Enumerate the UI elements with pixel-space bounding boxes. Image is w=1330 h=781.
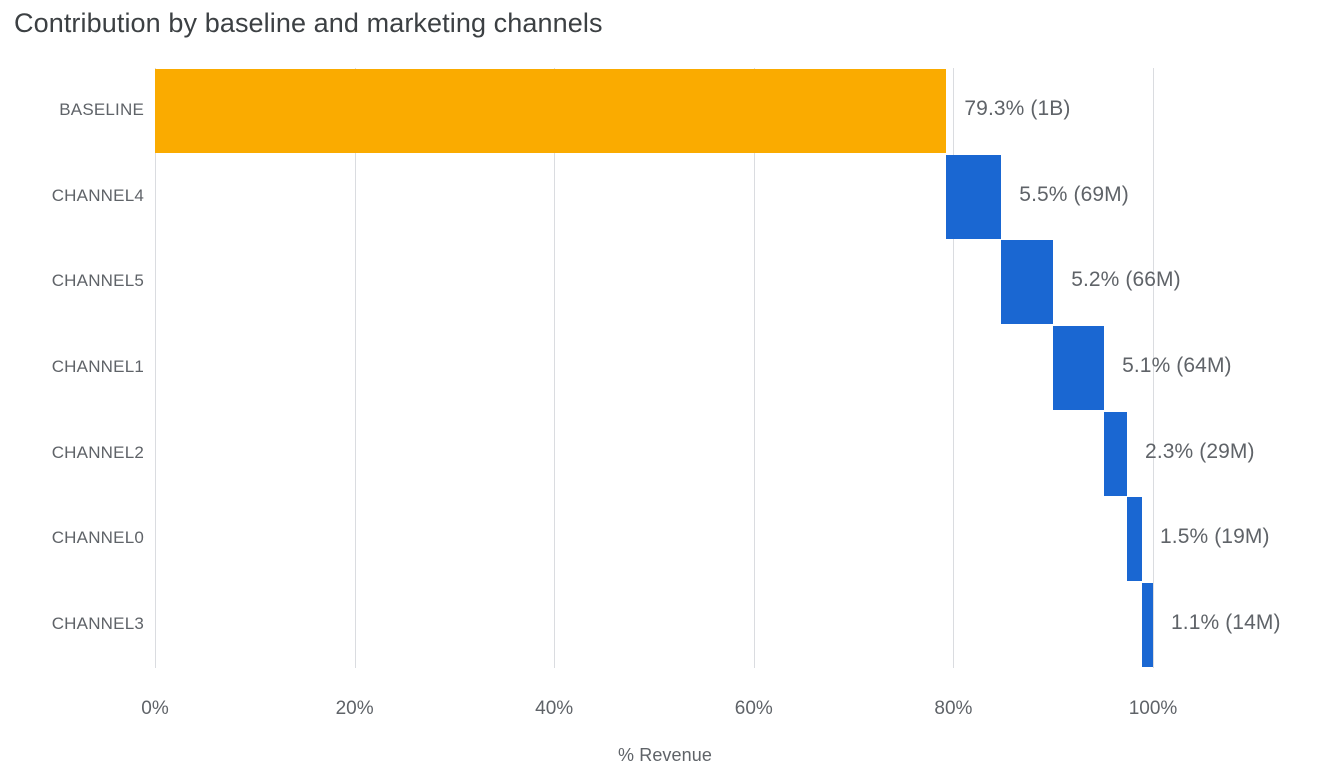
x-axis-tick-40: 40% bbox=[535, 698, 573, 720]
bar-channel4[interactable] bbox=[946, 155, 1001, 239]
data-label-baseline: 79.3% (1B) bbox=[964, 97, 1070, 121]
bar-channel2[interactable] bbox=[1104, 412, 1127, 496]
x-axis-tick-80: 80% bbox=[934, 698, 972, 720]
y-axis-label-channel4: CHANNEL4 bbox=[14, 186, 144, 206]
x-axis-title: % Revenue bbox=[0, 745, 1330, 766]
x-axis-tick-100: 100% bbox=[1129, 698, 1178, 720]
y-axis-label-channel5: CHANNEL5 bbox=[14, 271, 144, 291]
y-axis-label-channel0: CHANNEL0 bbox=[14, 528, 144, 548]
x-axis-tick-20: 20% bbox=[336, 698, 374, 720]
data-label-channel1: 5.1% (64M) bbox=[1122, 354, 1232, 378]
bar-baseline[interactable] bbox=[155, 69, 946, 153]
gridline-60 bbox=[754, 68, 755, 668]
y-axis-label-channel3: CHANNEL3 bbox=[14, 614, 144, 634]
data-label-channel5: 5.2% (66M) bbox=[1071, 268, 1181, 292]
bar-channel3[interactable] bbox=[1142, 583, 1153, 667]
gridline-40 bbox=[554, 68, 555, 668]
bar-channel5[interactable] bbox=[1001, 240, 1053, 324]
bar-channel1[interactable] bbox=[1053, 326, 1104, 410]
data-label-channel0: 1.5% (19M) bbox=[1160, 525, 1270, 549]
gridline-0 bbox=[155, 68, 156, 668]
gridline-20 bbox=[355, 68, 356, 668]
x-axis-tick-60: 60% bbox=[735, 698, 773, 720]
bar-channel0[interactable] bbox=[1127, 497, 1142, 581]
data-label-channel4: 5.5% (69M) bbox=[1019, 183, 1129, 207]
x-axis-tick-0: 0% bbox=[141, 698, 168, 720]
data-label-channel2: 2.3% (29M) bbox=[1145, 440, 1255, 464]
waterfall-chart: Contribution by baseline and marketing c… bbox=[0, 0, 1330, 781]
y-axis-label-channel2: CHANNEL2 bbox=[14, 443, 144, 463]
plot-area bbox=[155, 68, 1153, 668]
y-axis-label-baseline: BASELINE bbox=[14, 100, 144, 120]
data-label-channel3: 1.1% (14M) bbox=[1171, 611, 1281, 635]
y-axis-label-channel1: CHANNEL1 bbox=[14, 357, 144, 377]
chart-title: Contribution by baseline and marketing c… bbox=[14, 8, 603, 39]
